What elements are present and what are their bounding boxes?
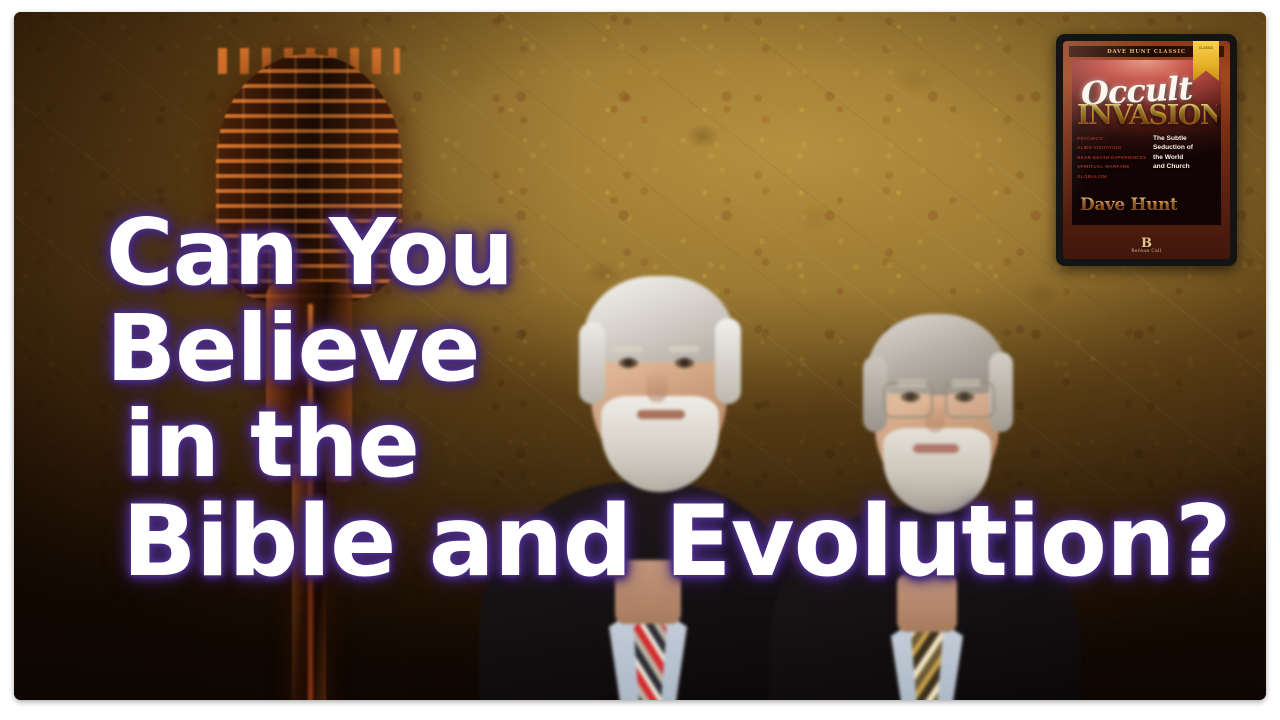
book-ribbon-label: CLASSIC: [1194, 46, 1218, 50]
book-title-main: INVASION: [1077, 100, 1217, 131]
book-keyword-2: NEAR-DEATH EXPERIENCES: [1077, 153, 1161, 162]
book-keyword-3: SPIRITUAL WARFARE: [1077, 162, 1161, 171]
book-subtitle-line-2: the World: [1153, 153, 1215, 162]
book-cover-artwork: Occult INVASION PSYCHICS ALIEN VISITATIO…: [1072, 60, 1221, 225]
book-author-name: Dave Hunt: [1080, 195, 1177, 215]
book-subtitle-line-1: Seduction of: [1153, 143, 1215, 152]
book-keyword-0: PSYCHICS: [1077, 134, 1161, 143]
book-keyword-1: ALIEN VISITATION: [1077, 143, 1161, 152]
book-keyword-4: GLOBALISM: [1077, 172, 1161, 181]
book-cover-card: DAVE HUNT CLASSIC Occult INVASION PSYCHI…: [1056, 34, 1237, 266]
book-keyword-list: PSYCHICS ALIEN VISITATION NEAR-DEATH EXP…: [1077, 134, 1161, 181]
book-cover-inner: DAVE HUNT CLASSIC Occult INVASION PSYCHI…: [1063, 41, 1230, 259]
book-subtitle: The Subtle Seduction of the World and Ch…: [1153, 134, 1215, 171]
publisher-name: Berean Call: [1063, 249, 1230, 254]
thumbnail-frame: Can You Believe in the Bible and Evoluti…: [0, 0, 1280, 720]
book-subtitle-line-0: The Subtle: [1153, 134, 1215, 143]
book-subtitle-line-3: and Church: [1153, 162, 1215, 171]
thumbnail-artwork: Can You Believe in the Bible and Evoluti…: [14, 12, 1266, 700]
book-publisher-logo: B Berean Call: [1063, 237, 1230, 254]
book-band-label: DAVE HUNT CLASSIC: [1107, 49, 1186, 55]
